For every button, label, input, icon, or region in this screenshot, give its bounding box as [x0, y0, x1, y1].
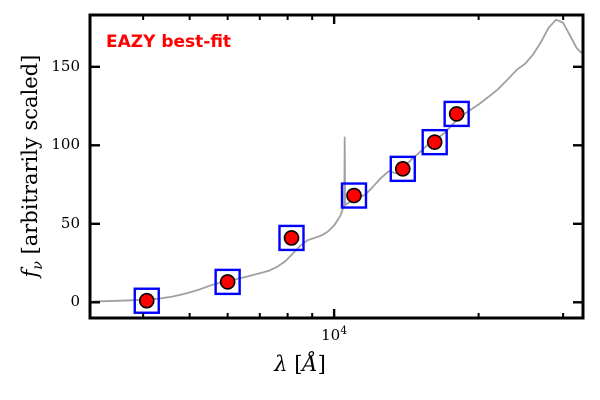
photometry-markers [135, 102, 469, 313]
y-tick-label: 150 [28, 57, 80, 75]
y-tick-label: 50 [28, 214, 80, 232]
photometry-point [428, 135, 442, 149]
photometry-point [396, 162, 410, 176]
plot-frame [90, 15, 583, 318]
y-tick-label: 100 [28, 135, 80, 153]
eazy-bestfit-annotation: EAZY best-fit [106, 32, 231, 52]
photometry-point [284, 231, 298, 245]
photometry-point [450, 107, 464, 121]
y-tick-label: 0 [28, 292, 80, 310]
x-tick-label: 104 [294, 324, 374, 344]
photometry-point [347, 189, 361, 203]
photometry-point [140, 294, 154, 308]
axes-frame [90, 15, 583, 318]
figure-canvas: EAZY best-fit fν [arbitrarily scaled] λ … [0, 0, 600, 400]
x-axis-label: λ [Å] [0, 352, 600, 376]
sed-template-line [93, 20, 583, 302]
photometry-point [221, 275, 235, 289]
